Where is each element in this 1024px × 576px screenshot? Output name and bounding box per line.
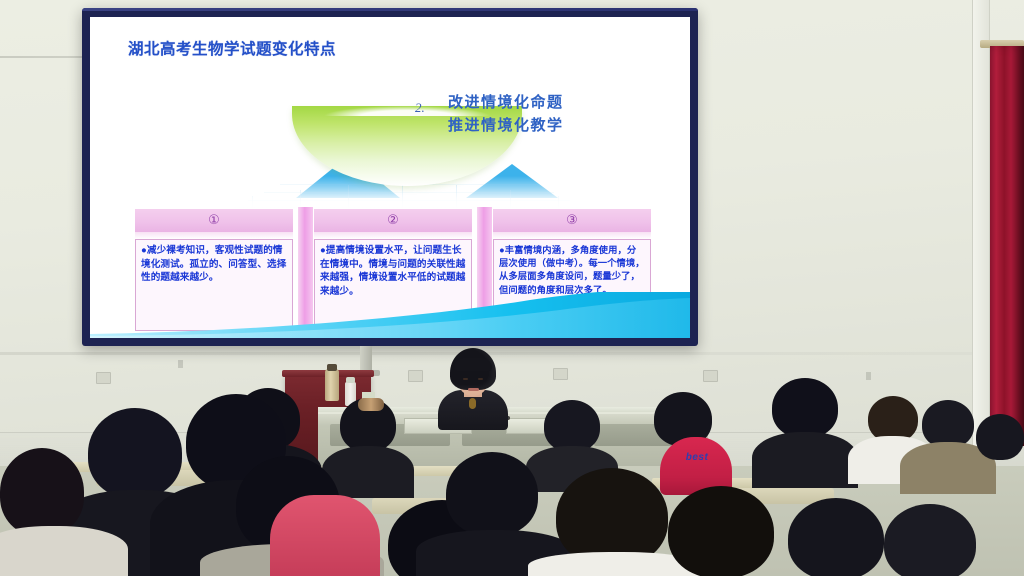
presenter-mouth: [468, 388, 479, 391]
audience-head: [922, 400, 974, 448]
panel-number-2: ②: [387, 214, 399, 227]
presenter-fringe: [454, 358, 492, 371]
audience-head-foreground: [668, 486, 774, 576]
slide-headline-line-2: 推进情境化教学: [448, 114, 564, 135]
audience-shoulders-foreground: [0, 526, 128, 576]
audience-head-foreground: [884, 504, 976, 576]
panel-header-1: ①: [135, 209, 293, 232]
lecture-hall-scene: 湖北高考生物学试题变化特点: [0, 0, 1024, 576]
panel-number-3: ③: [566, 214, 578, 227]
panel-text-3: ●丰富情境内涵，多角度使用，分层次使用（做中考）。每一个情境，从多层面多角度设问…: [499, 244, 645, 297]
window-curtain: [990, 46, 1024, 446]
panel-header-3: ③: [493, 209, 651, 232]
audience-head-foreground: [0, 448, 84, 536]
slide-title: 湖北高考生物学试题变化特点: [128, 37, 336, 59]
wall-outlet: [96, 372, 111, 384]
panel-number-1: ①: [208, 214, 220, 227]
presenter-eye-left: [463, 378, 468, 380]
audience-head-foreground: [788, 498, 884, 576]
slide-hero-graphic: 2. 改进情境化命题 推进情境化教学: [200, 82, 590, 212]
hair-clip: [358, 398, 384, 411]
water-bottle-cap: [346, 377, 355, 383]
screen-wall-mount: [360, 346, 372, 372]
wall-outlet: [553, 368, 568, 380]
thermos-flask: [325, 369, 339, 401]
panel-header-2: ②: [314, 209, 472, 232]
audience-shoulders: [752, 432, 858, 488]
wall-mark: [178, 360, 183, 368]
wall-outlet: [703, 370, 718, 382]
screen-bezel-highlight: [82, 8, 698, 11]
presenter-necklace-pendant: [469, 398, 476, 409]
audience-head: [544, 400, 600, 452]
presenter-eye-right: [478, 378, 483, 380]
wall-rail: [0, 352, 1024, 355]
audience-pink-shirt: [270, 495, 380, 576]
audience-head-foreground: [88, 408, 182, 498]
presenter: [436, 348, 508, 426]
audience-head: [976, 414, 1024, 460]
audience-head: [772, 378, 838, 438]
panel-text-2: ●提高情境设置水平，让问题生长在情境中。情境与问题的关联性越来越强，情境设置水平…: [320, 244, 466, 298]
slide-headline-line-1: 改进情境化命题: [448, 91, 564, 112]
wall-outlet: [408, 370, 423, 382]
panel-text-1: ●减少裸考知识，客观性试题的情境化测试。孤立的、问答型、选择性的题越来越少。: [141, 244, 287, 285]
slide-canvas: 湖北高考生物学试题变化特点: [90, 17, 690, 338]
wall-mark: [866, 372, 871, 380]
slide-bottom-ribbon: [90, 292, 690, 338]
audience-head-foreground: [446, 452, 538, 536]
slide-section-number: 2.: [415, 100, 425, 116]
projection-screen[interactable]: 湖北高考生物学试题变化特点: [82, 8, 698, 346]
window-frame: [972, 0, 990, 448]
thermos-cap: [327, 364, 337, 371]
